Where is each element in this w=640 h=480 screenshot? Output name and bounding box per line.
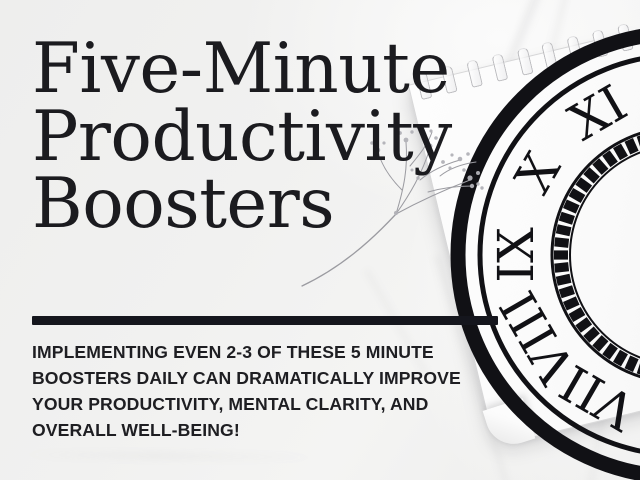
poster-canvas: XII I II III IV V VI VII VIII IX X XI: [0, 0, 640, 480]
text-content: Five-Minute Productivity Boosters Implem…: [32, 0, 512, 480]
page-title: Five-Minute Productivity Boosters: [32, 36, 512, 239]
subheading-copy: Implementing even 2-3 of these 5 minute …: [32, 340, 484, 443]
clock-numeral: X: [504, 143, 572, 203]
title-divider-rule: [32, 316, 498, 325]
